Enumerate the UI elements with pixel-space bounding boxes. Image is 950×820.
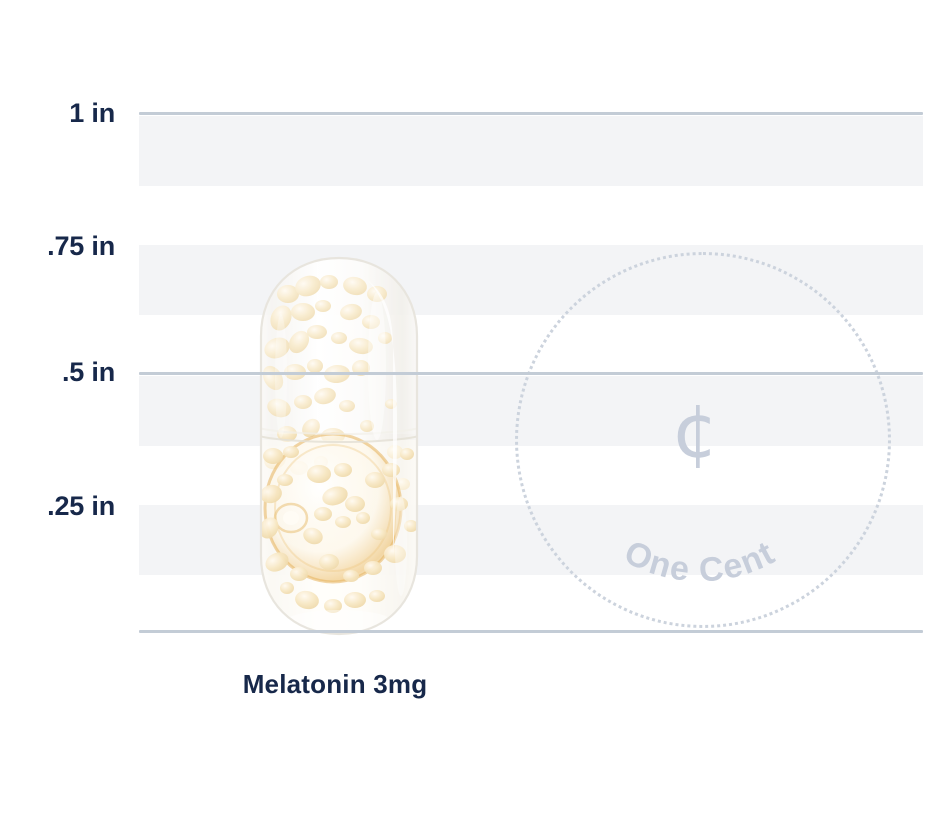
axis-label-25in: .25 in	[0, 491, 115, 522]
axis-label-75in: .75 in	[0, 231, 115, 262]
penny-curved-label: One Cent	[515, 252, 885, 622]
one-cent-text: One Cent	[618, 533, 781, 589]
svg-text:One Cent: One Cent	[618, 533, 781, 589]
measure-band-1in	[139, 116, 923, 186]
axis-label-5in: .5 in	[0, 357, 115, 388]
axis-label-1in: 1 in	[0, 98, 115, 129]
gridline-1in	[139, 112, 923, 115]
gridline-baseline	[139, 630, 923, 633]
capsule-icon	[251, 256, 427, 636]
gridline-05in	[139, 372, 923, 375]
size-comparison-chart: ¢ One Cent	[0, 0, 950, 820]
product-caption: Melatonin 3mg	[160, 669, 510, 700]
